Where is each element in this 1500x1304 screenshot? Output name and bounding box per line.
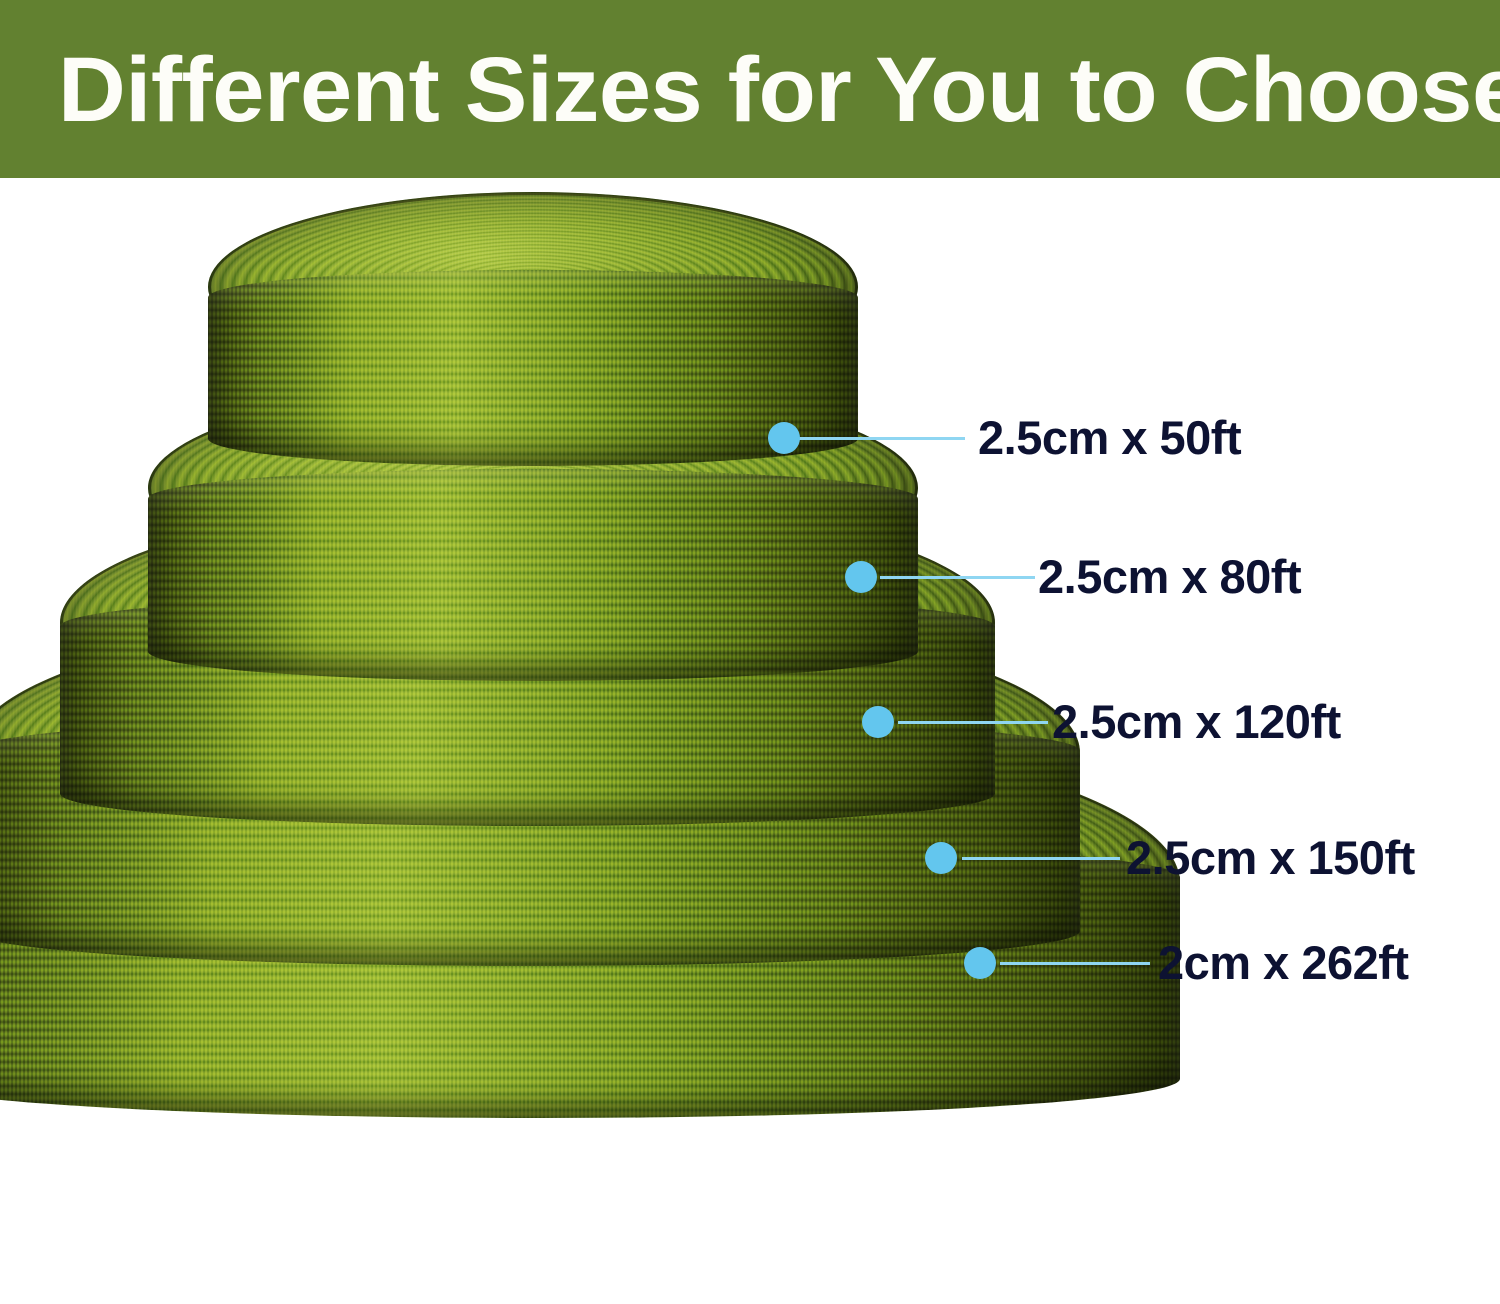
callout-label-262ft: 2cm x 262ft (1158, 939, 1409, 986)
callout-dot-120ft[interactable] (862, 706, 894, 738)
callout-line-50ft (790, 437, 965, 440)
roll-side-80ft (148, 469, 918, 681)
callout-line-262ft (1000, 962, 1150, 965)
callout-dot-80ft[interactable] (845, 561, 877, 593)
callout-dot-150ft[interactable] (925, 842, 957, 874)
callout-label-80ft: 2.5cm x 80ft (1038, 553, 1301, 600)
product-infographic: Different Sizes for You to Choose (0, 0, 1500, 1304)
roll-side-50ft (208, 270, 858, 466)
callout-line-80ft (880, 576, 1035, 579)
callout-label-120ft: 2.5cm x 120ft (1052, 698, 1341, 745)
callout-line-120ft (898, 721, 1048, 724)
callout-label-150ft: 2.5cm x 150ft (1126, 834, 1415, 881)
product-image: 2.5cm x 50ft 2.5cm x 80ft 2.5cm x 120ft … (0, 178, 1500, 1304)
callout-label-50ft: 2.5cm x 50ft (978, 414, 1241, 461)
callout-dot-50ft[interactable] (768, 422, 800, 454)
callout-dot-262ft[interactable] (964, 947, 996, 979)
header-banner: Different Sizes for You to Choose (0, 0, 1500, 178)
callout-line-150ft (962, 857, 1120, 860)
webbing-roll-50ft (208, 192, 858, 482)
page-title: Different Sizes for You to Choose (58, 44, 1500, 136)
